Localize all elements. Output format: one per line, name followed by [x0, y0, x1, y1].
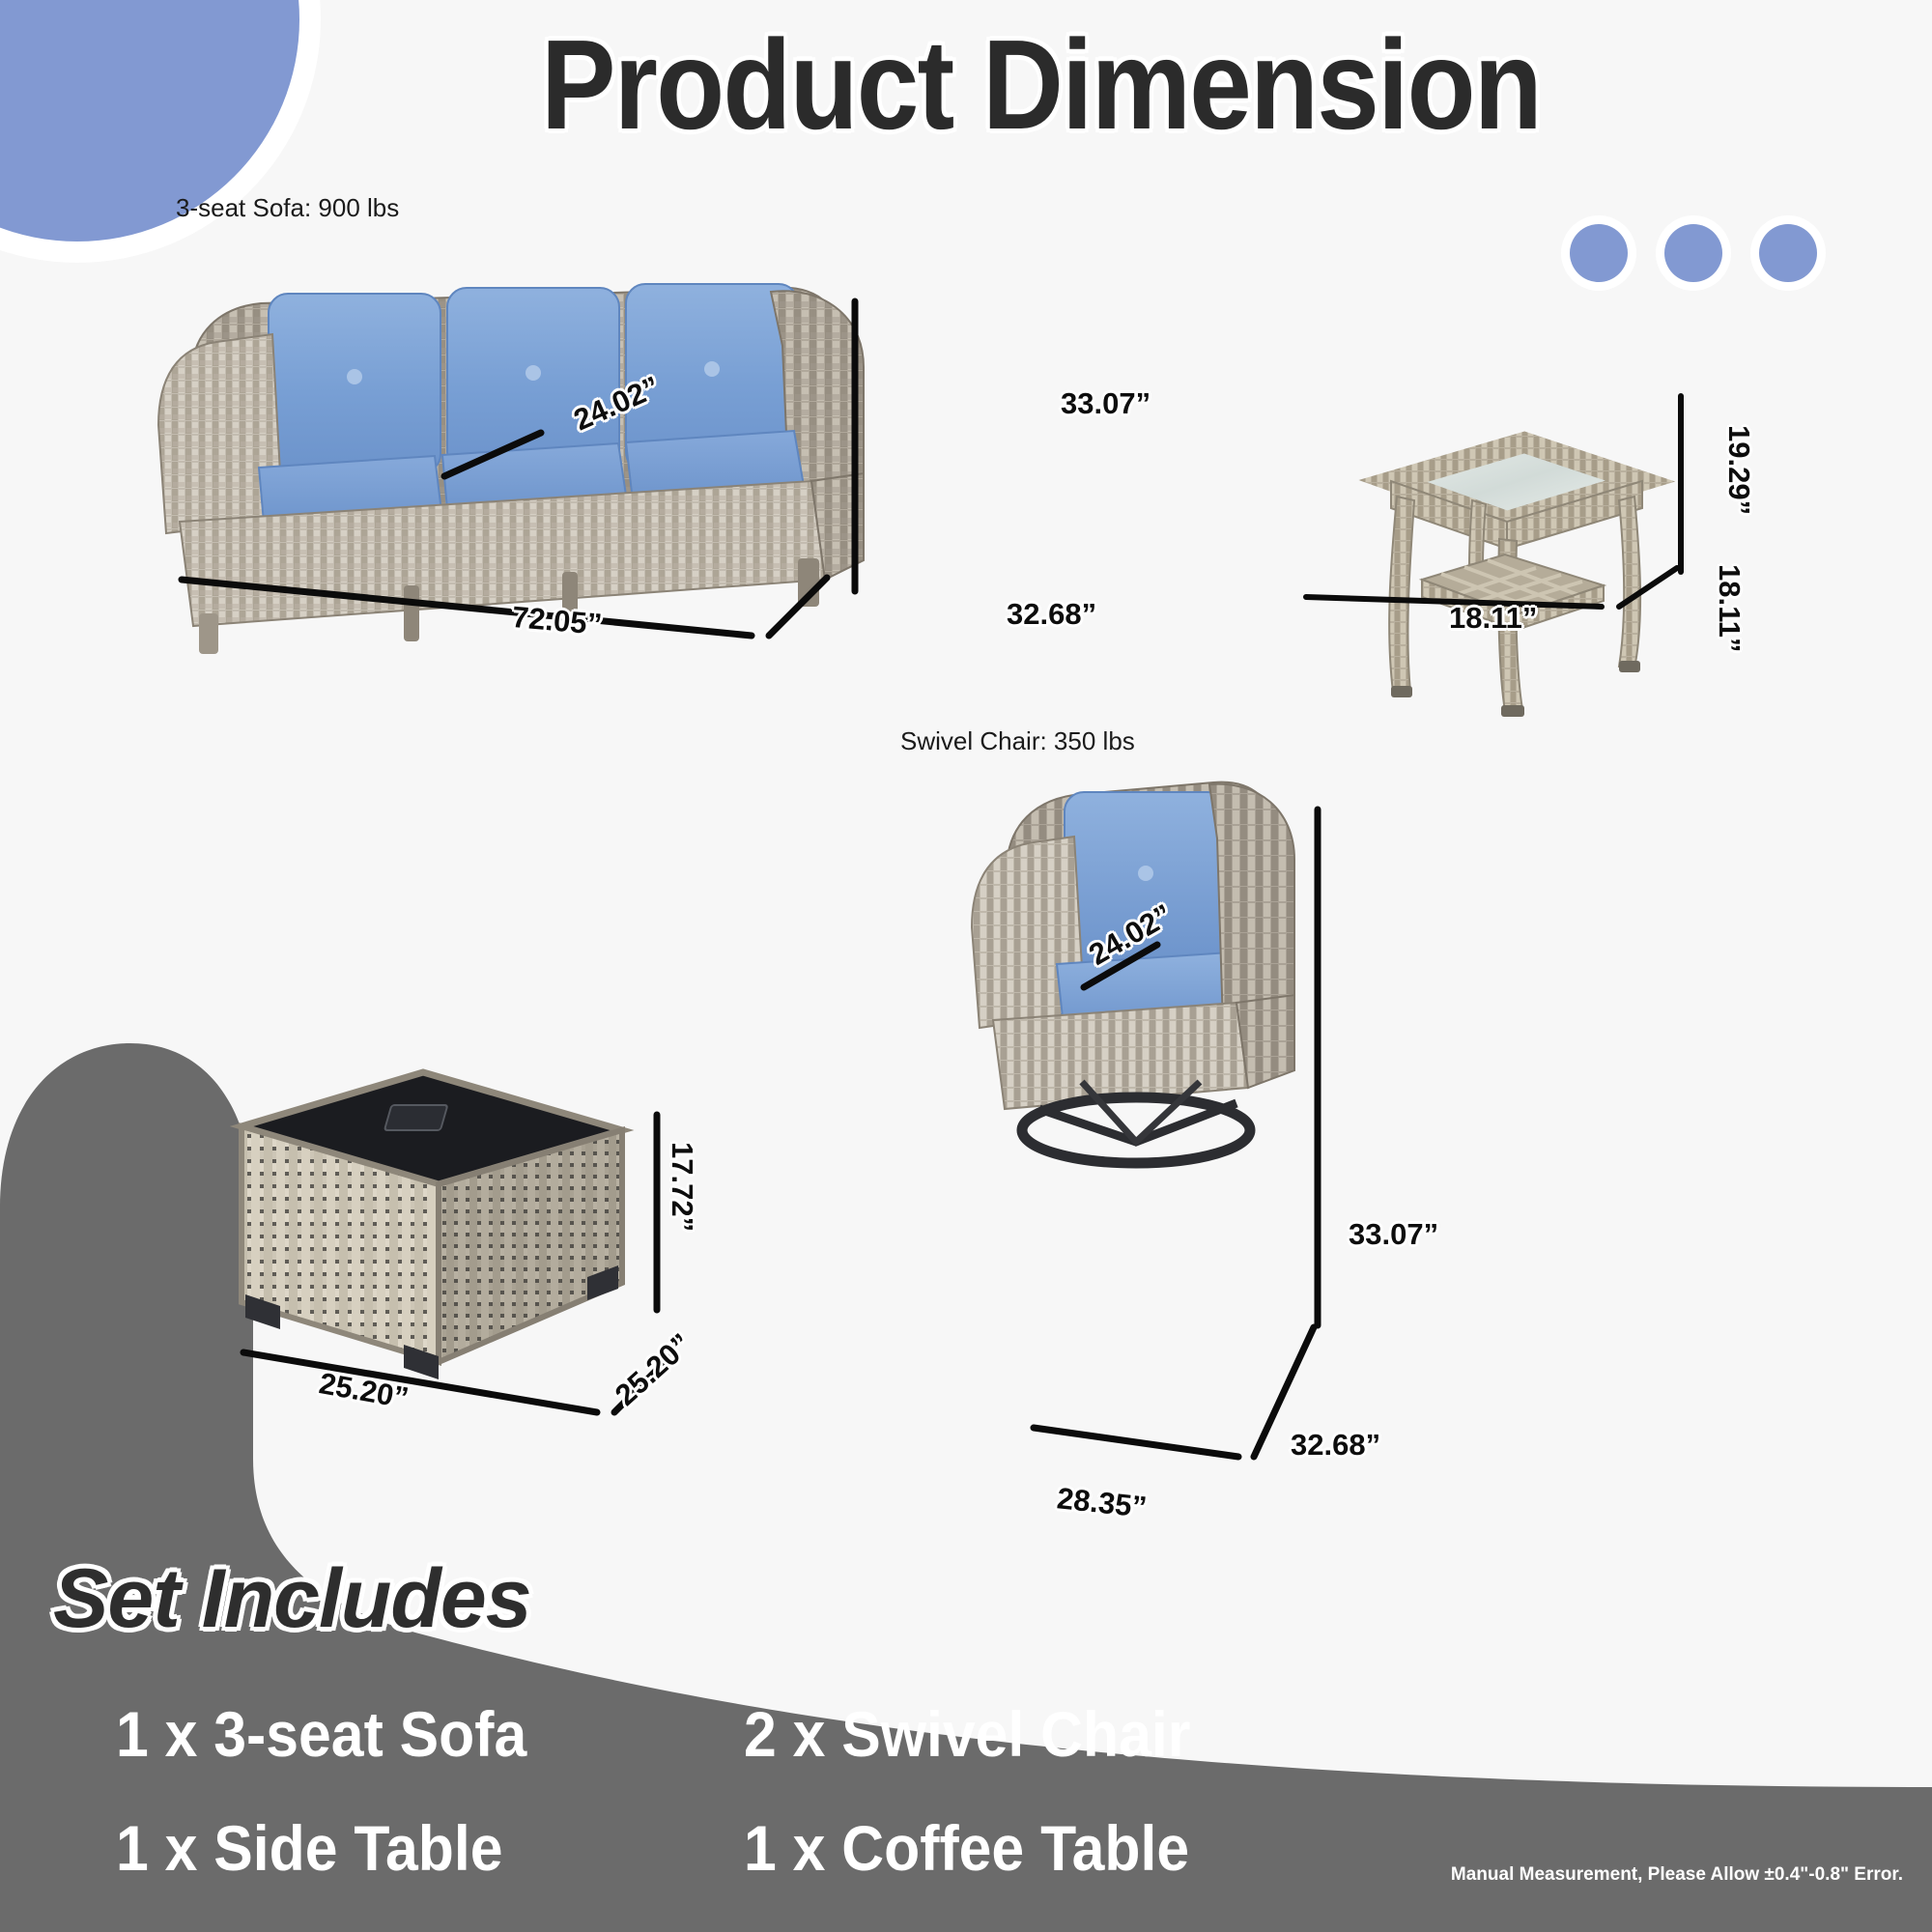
dot-2-icon	[1664, 224, 1722, 282]
dot-3-icon	[1759, 224, 1817, 282]
sofa-caption: 3-seat Sofa: 900 lbs	[176, 193, 399, 223]
set-includes-heading: Set Includes	[53, 1551, 531, 1647]
dot-1-icon	[1570, 224, 1628, 282]
set-includes-row: 1 x 3-seat Sofa 2 x Swivel Chair	[116, 1677, 1372, 1791]
coffee-table-dimension-lines	[193, 1024, 869, 1430]
sofa-depth-label: 32.68”	[1007, 597, 1096, 632]
set-includes-item: 1 x Coffee Table	[744, 1791, 1321, 1905]
measurement-disclaimer: Manual Measurement, Please Allow ±0.4"-0…	[1451, 1864, 1903, 1886]
swivel-chair-height-label: 33.07”	[1349, 1217, 1438, 1252]
sofa-height-label: 33.07”	[1061, 386, 1151, 421]
page-title: Product Dimension	[541, 21, 1541, 149]
side-table-dimension-lines	[1352, 406, 1893, 696]
dot-decor-group	[1570, 224, 1817, 282]
swivel-chair-dimension-lines	[927, 734, 1604, 1526]
side-table-depth-label: 18.11”	[1712, 564, 1747, 652]
swivel-chair-depth-label: 32.68”	[1291, 1428, 1380, 1463]
coffee-table-height-label: 17.72”	[665, 1142, 699, 1232]
set-includes-list: 1 x 3-seat Sofa 2 x Swivel Chair 1 x Sid…	[116, 1677, 1372, 1905]
set-includes-item: 2 x Swivel Chair	[744, 1677, 1321, 1791]
side-table-width-label: 18.11”	[1449, 601, 1537, 636]
set-includes-item: 1 x 3-seat Sofa	[116, 1677, 694, 1791]
side-table-height-label: 19.29”	[1721, 425, 1756, 515]
infographic-canvas: Product Dimension 3-seat Sofa: 900 lbs	[0, 0, 1932, 1932]
set-includes-item: 1 x Side Table	[116, 1791, 694, 1905]
set-includes-row: 1 x Side Table 1 x Coffee Table	[116, 1791, 1372, 1905]
